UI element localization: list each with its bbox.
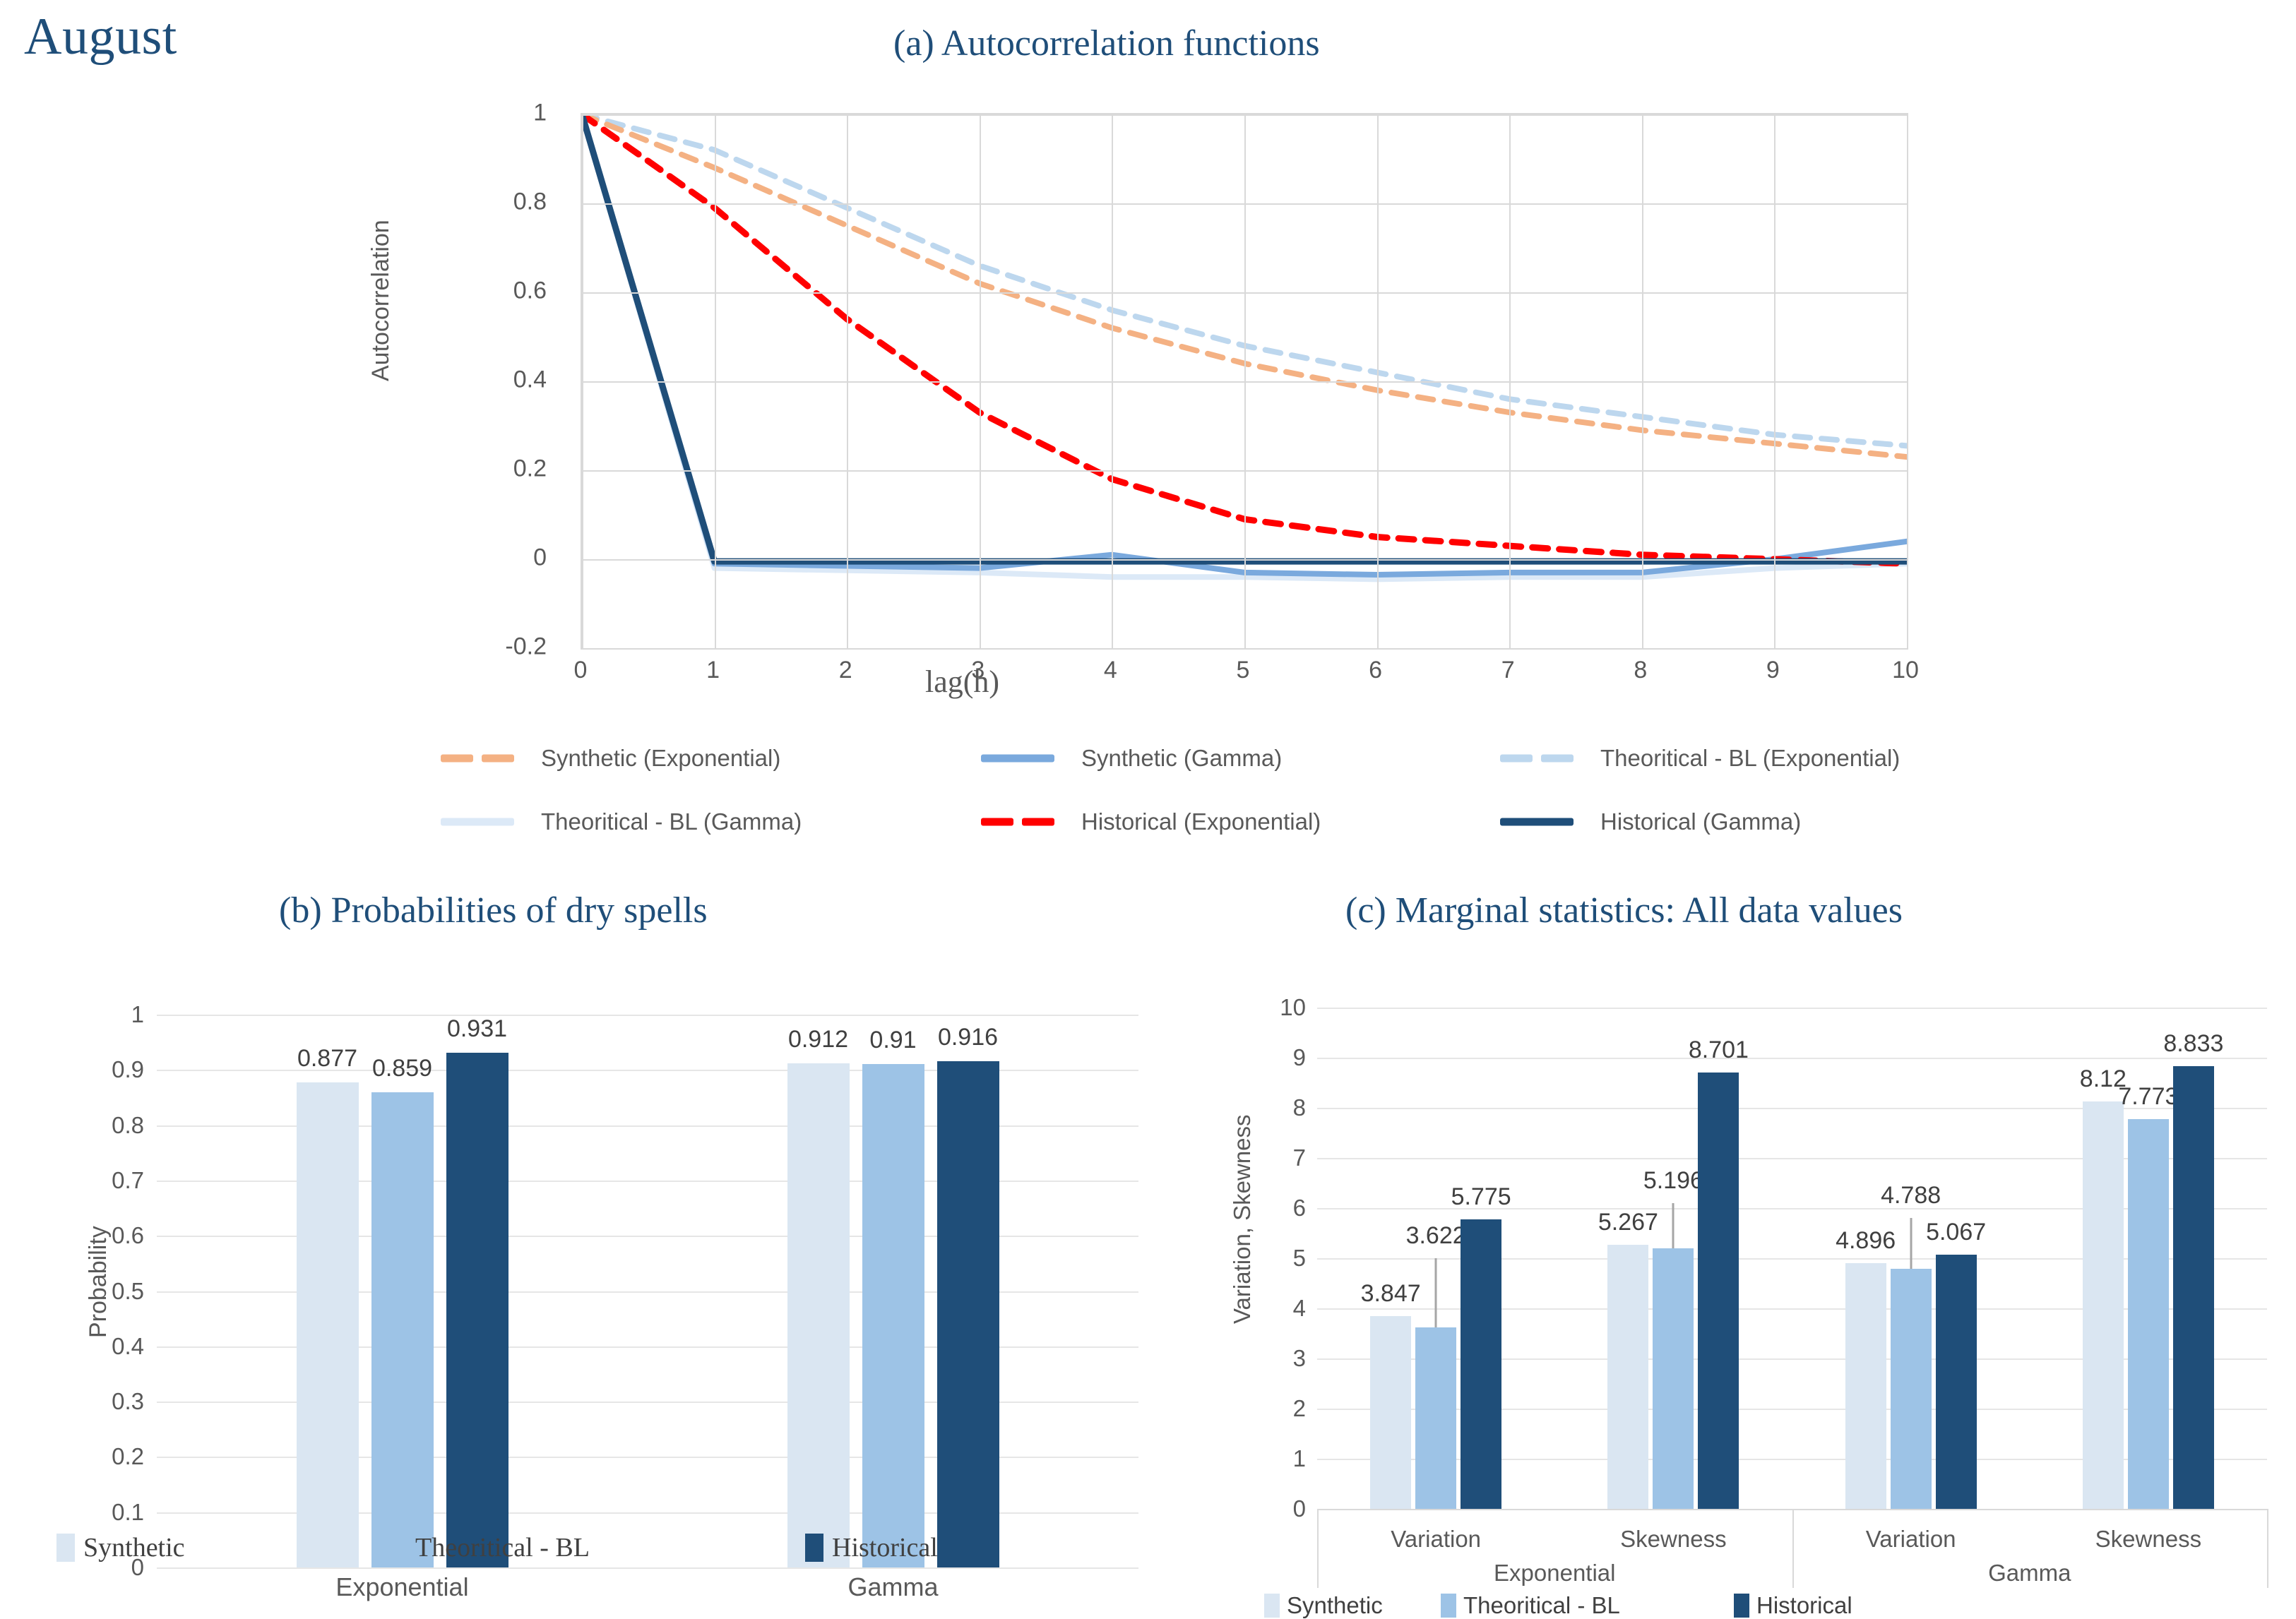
panel-c-y-tick-label: 8 [1293, 1094, 1306, 1121]
panel-c-y-tick-label: 5 [1293, 1245, 1306, 1272]
panel-c-outer-group-label: Exponential [1494, 1560, 1615, 1587]
panel-b-bar-value-label: 0.859 [372, 1055, 432, 1082]
panel-b-legend-item[interactable]: Historical [805, 1532, 938, 1563]
panel-b-bar-group: 0.9120.910.916 [648, 1015, 1138, 1567]
panel-dry-spells: (b) Probabilities of dry spells Probabil… [0, 886, 1144, 1589]
panel-c-error-bar [1435, 1258, 1437, 1327]
panel-a-legend-item[interactable]: Theoritical - BL (Exponential) [1497, 741, 1900, 775]
panel-b-bar-value-label: 0.877 [297, 1045, 357, 1073]
panel-a-title: (a) Autocorrelation functions [893, 23, 1320, 64]
panel-c-axis-separator [1792, 1509, 1794, 1588]
panel-c-legend-item[interactable]: Synthetic [1264, 1592, 1383, 1619]
panel-c-bar-group: 3.8473.6225.775 [1317, 1008, 1554, 1509]
panel-b-legend-label: Theoritical - BL [415, 1532, 590, 1563]
panel-b-y-axis-title: Probability [85, 1226, 112, 1338]
panel-a-x-tick-label: 2 [839, 657, 852, 684]
panel-a-x-tick-label: 4 [1104, 657, 1117, 684]
panel-c-bar-value-label: 4.896 [1836, 1227, 1896, 1255]
panel-b-bar-value-label: 0.912 [788, 1026, 848, 1053]
panel-c-bar-value-label: 7.773 [2118, 1083, 2178, 1111]
panel-c-error-bar [1672, 1203, 1675, 1248]
panel-c-legend-item[interactable]: Theoritical - BL [1441, 1592, 1620, 1619]
panel-a-y-tick-label: -0.2 [505, 633, 547, 661]
panel-c-bar-rect [1461, 1219, 1501, 1509]
panel-c-bar-value-label: 4.788 [1881, 1182, 1941, 1209]
panel-c-y-tick-label: 2 [1293, 1395, 1306, 1422]
panel-b-y-tick-label: 0.5 [112, 1278, 144, 1305]
panel-b-legend-swatch-icon [388, 1534, 407, 1562]
panel-c-bar-rect [1370, 1316, 1411, 1509]
panel-c-legend-label: Historical [1756, 1592, 1852, 1619]
panel-c-title: (c) Marginal statistics: All data values [1345, 890, 1903, 931]
panel-a-legend-item[interactable]: Theoritical - BL (Gamma) [438, 805, 802, 839]
panel-a-x-tick-label: 7 [1501, 657, 1515, 684]
panel-c-error-bar [1910, 1218, 1912, 1269]
panel-a-y-tick-label: 0 [533, 544, 547, 572]
panel-c-y-tick-label: 9 [1293, 1044, 1306, 1071]
panel-a-gridline-h [582, 559, 1907, 561]
panel-b-y-tick-label: 0.1 [112, 1499, 144, 1526]
panel-a-x-tick-label: 8 [1634, 657, 1647, 684]
panel-c-y-tick-label: 10 [1280, 994, 1306, 1021]
panel-a-x-tick-label: 5 [1237, 657, 1250, 684]
panel-a-gridline-h [582, 648, 1907, 650]
panel-c-y-tick-label: 1 [1293, 1445, 1306, 1472]
panel-b-bar-rect [862, 1064, 924, 1567]
panel-a-legend-label: Historical (Gamma) [1600, 808, 1801, 835]
panel-a-x-tick-label: 0 [574, 657, 588, 684]
panel-c-y-tick-label: 6 [1293, 1195, 1306, 1221]
panel-c-category-label: Variation [1391, 1526, 1481, 1553]
panel-b-bar-value-label: 0.916 [938, 1024, 998, 1051]
panel-b-y-tick-label: 0.8 [112, 1112, 144, 1139]
panel-c-bar-value-label: 3.847 [1361, 1280, 1421, 1308]
panel-b-plot-area: 10.90.80.70.60.50.40.30.20.100.8770.8590… [157, 1015, 1138, 1567]
panel-a-legend-item[interactable]: Historical (Exponential) [978, 805, 1321, 839]
panel-a-y-tick-label: 0.6 [513, 277, 547, 305]
panel-a-y-ticks: 10.80.60.40.20-0.2 [424, 113, 565, 650]
panel-c-bar-rect [1607, 1245, 1648, 1509]
panel-c-bar-group: 8.127.7738.833 [2030, 1008, 2267, 1509]
panel-a-gridline-h [582, 292, 1907, 294]
panel-a-x-tick-label: 6 [1369, 657, 1382, 684]
panel-b-bar-value-label: 0.91 [869, 1027, 916, 1054]
panel-b-legend-swatch-icon [56, 1534, 75, 1562]
panel-c-bar-value-label: 3.622 [1406, 1222, 1466, 1250]
panel-a-gridline-h [582, 203, 1907, 205]
panel-a-gridline-v [1907, 114, 1908, 648]
panel-c-axis-separator [1317, 1509, 1319, 1588]
panel-c-y-tick-label: 7 [1293, 1145, 1306, 1171]
panel-c-axis-separator [2267, 1509, 2268, 1588]
panel-a-legend-swatch-icon [438, 805, 530, 839]
panel-c-category-label: Skewness [1620, 1526, 1726, 1553]
panel-c-y-axis-title: Variation, Skewness [1229, 1114, 1256, 1324]
panel-c-y-tick-label: 0 [1293, 1495, 1306, 1522]
panel-a-legend-swatch-icon [978, 741, 1070, 775]
panel-b-bar-group: 0.8770.8590.931 [157, 1015, 648, 1567]
panel-a-gridline-h [582, 381, 1907, 383]
panel-c-axis-box: VariationSkewnessVariationSkewnessExpone… [1317, 1509, 2267, 1588]
panel-b-legend-item[interactable]: Theoritical - BL [388, 1532, 590, 1563]
panel-c-bar-value-label: 8.833 [2163, 1030, 2223, 1058]
panel-c-category-label: Variation [1866, 1526, 1956, 1553]
panel-b-legend-swatch-icon [805, 1534, 823, 1562]
panel-a-x-tick-label: 9 [1766, 657, 1780, 684]
panel-a-x-tick-label: 10 [1892, 657, 1919, 684]
panel-b-title: (b) Probabilities of dry spells [279, 890, 708, 931]
panel-b-bar-rect [446, 1053, 508, 1567]
panel-b-y-tick-label: 0.4 [112, 1333, 144, 1360]
panel-a-x-tick-label: 1 [706, 657, 720, 684]
panel-c-legend-swatch-icon [1441, 1594, 1456, 1618]
panel-c-y-tick-label: 4 [1293, 1295, 1306, 1322]
panel-a-y-tick-label: 0.8 [513, 189, 547, 216]
panel-c-bar-rect [1698, 1073, 1739, 1509]
panel-a-y-tick-label: 1 [533, 100, 547, 127]
panel-c-bar-rect [1845, 1263, 1886, 1509]
panel-marginal-statistics: (c) Marginal statistics: All data values… [1144, 886, 2296, 1589]
figure-page: August (a) Autocorrelation functions Aut… [0, 0, 2296, 1589]
panel-c-bar-rect [1936, 1255, 1977, 1509]
panel-a-legend-item[interactable]: Synthetic (Gamma) [978, 741, 1282, 775]
panel-b-gridline [157, 1567, 1138, 1569]
panel-c-bar-rect [1891, 1269, 1932, 1509]
panel-c-plot-area: 1098765432103.8473.6225.7755.2675.1968.7… [1317, 1008, 2267, 1509]
panel-b-legend-item[interactable]: Synthetic [56, 1532, 185, 1563]
panel-c-category-label: Skewness [2095, 1526, 2201, 1553]
panel-c-bar-group: 4.8964.7885.067 [1792, 1008, 2030, 1509]
panel-c-bar-rect [1415, 1327, 1456, 1509]
panel-a-legend-label: Synthetic (Exponential) [541, 745, 780, 772]
panel-c-bar-rect [1653, 1248, 1694, 1509]
panel-a-legend-swatch-icon [1497, 805, 1589, 839]
panel-c-legend-label: Theoritical - BL [1463, 1592, 1620, 1619]
panel-b-y-tick-label: 0.6 [112, 1222, 144, 1249]
panel-a-x-tick-label: 3 [971, 657, 985, 684]
panel-b-bar-rect [297, 1082, 359, 1567]
panel-a-legend-item[interactable]: Historical (Gamma) [1497, 805, 1801, 839]
panel-c-outer-group-label: Gamma [1988, 1560, 2071, 1587]
panel-c-legend-swatch-icon [1264, 1594, 1280, 1618]
panel-c-bar-value-label: 5.267 [1598, 1209, 1658, 1236]
panel-a-x-ticks: 012345678910 [581, 657, 1908, 692]
panel-c-legend-label: Synthetic [1287, 1592, 1383, 1619]
panel-c-bar-rect [2128, 1119, 2169, 1509]
panel-c-bar-value-label: 5.196 [1643, 1167, 1703, 1195]
panel-a-legend-swatch-icon [438, 741, 530, 775]
panel-b-legend-label: Historical [832, 1532, 938, 1563]
panel-a-y-tick-label: 0.4 [513, 366, 547, 394]
panel-c-bar-rect [2173, 1066, 2214, 1509]
panel-c-bar-rect [2083, 1101, 2124, 1509]
panel-a-legend-label: Theoritical - BL (Exponential) [1600, 745, 1900, 772]
panel-autocorrelation: (a) Autocorrelation functions Autocorrel… [0, 0, 2296, 890]
panel-c-bar-value-label: 5.067 [1926, 1219, 1986, 1246]
panel-a-legend-item[interactable]: Synthetic (Exponential) [438, 741, 780, 775]
panel-c-legend-swatch-icon [1734, 1594, 1749, 1618]
panel-a-plot-area [581, 113, 1908, 650]
panel-a-legend-swatch-icon [1497, 741, 1589, 775]
panel-a-legend-swatch-icon [978, 805, 1070, 839]
panel-b-y-tick-label: 0.2 [112, 1443, 144, 1470]
panel-b-bar-rect [787, 1063, 850, 1567]
panel-a-gridline-h [582, 470, 1907, 472]
panel-b-bar-rect [937, 1061, 999, 1567]
panel-b-y-tick-label: 0.7 [112, 1167, 144, 1194]
panel-b-y-tick-label: 1 [131, 1001, 144, 1028]
panel-b-legend-label: Synthetic [83, 1532, 185, 1563]
panel-c-y-tick-label: 3 [1293, 1345, 1306, 1372]
panel-b-y-tick-label: 0.9 [112, 1056, 144, 1083]
panel-b-bar-value-label: 0.931 [447, 1015, 507, 1043]
panel-a-legend-label: Historical (Exponential) [1081, 808, 1321, 835]
panel-a-y-tick-label: 0.2 [513, 455, 547, 483]
panel-a-legend: Synthetic (Exponential)Synthetic (Gamma)… [438, 741, 1992, 868]
panel-c-bar-value-label: 5.775 [1451, 1183, 1511, 1211]
panel-b-category-label: Gamma [847, 1572, 938, 1602]
panel-a-legend-label: Theoritical - BL (Gamma) [541, 808, 802, 835]
panel-b-y-tick-label: 0.3 [112, 1388, 144, 1415]
panel-a-y-axis-title: Autocorrelation [367, 220, 395, 381]
panel-a-gridline-h [582, 114, 1907, 116]
panel-b-bar-rect [371, 1092, 434, 1567]
panel-b-category-label: Exponential [335, 1572, 468, 1602]
panel-c-bar-group: 5.2675.1968.701 [1554, 1008, 1792, 1509]
panel-c-bar-value-label: 8.701 [1689, 1036, 1749, 1064]
panel-c-legend-item[interactable]: Historical [1734, 1592, 1852, 1619]
panel-a-legend-label: Synthetic (Gamma) [1081, 745, 1282, 772]
